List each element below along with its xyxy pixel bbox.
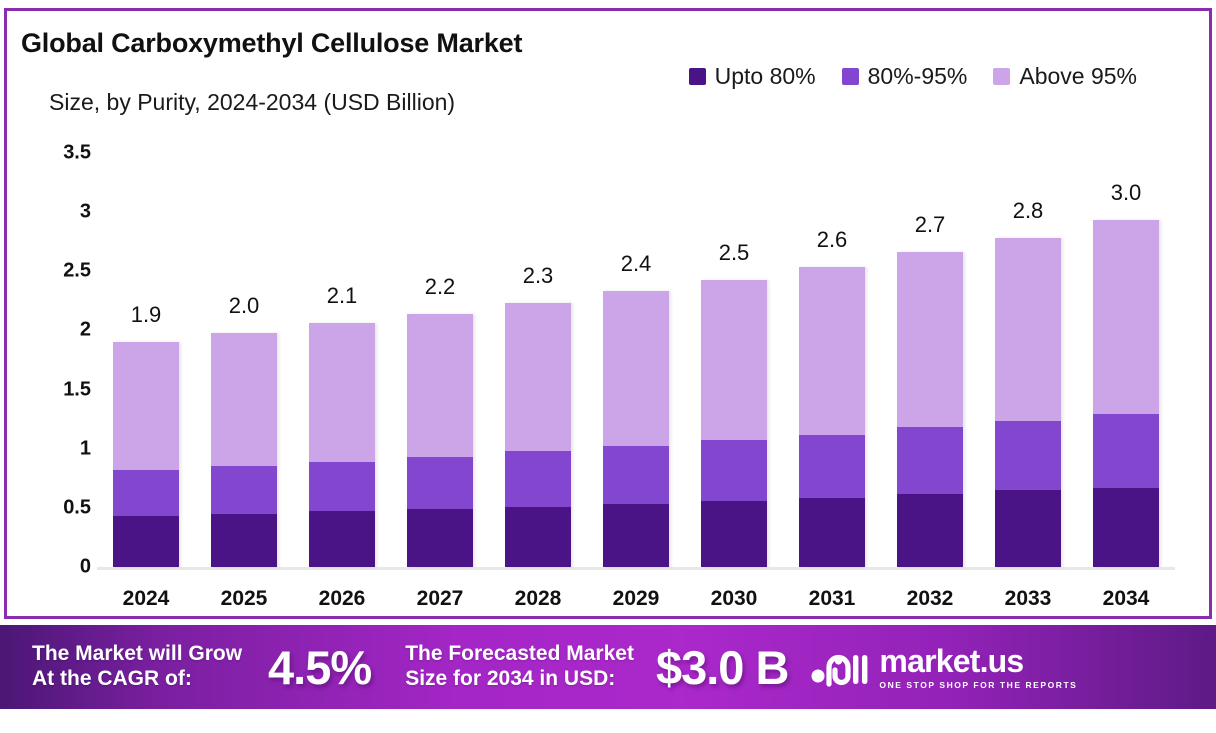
bar-segment[interactable] <box>309 462 375 512</box>
bar-value-label: 3.0 <box>1077 180 1175 206</box>
bar-value-label: 2.2 <box>391 274 489 300</box>
market-us-logo-icon <box>810 646 870 688</box>
bar-segment[interactable] <box>799 498 865 567</box>
bar-value-label: 2.5 <box>685 240 783 266</box>
bar-segment[interactable] <box>505 303 571 451</box>
bar-segment[interactable] <box>701 440 767 500</box>
bar-segment[interactable] <box>505 451 571 507</box>
bar-segment[interactable] <box>995 421 1061 490</box>
bar-value-label: 2.6 <box>783 227 881 253</box>
bar-segment[interactable] <box>897 494 963 567</box>
x-axis-tick-label: 2029 <box>587 587 685 611</box>
stacked-bar[interactable] <box>995 238 1061 567</box>
bar-segment[interactable] <box>505 507 571 567</box>
y-axis: 00.511.522.533.5 <box>35 11 91 616</box>
bar-segment[interactable] <box>309 511 375 567</box>
x-axis-tick-label: 2031 <box>783 587 881 611</box>
plot-area: 00.511.522.533.5 1.920242.020252.120262.… <box>7 11 1212 616</box>
forecast-label-line1: The Forecasted Market <box>405 642 634 667</box>
bar-group[interactable]: 2.62031 <box>783 11 881 567</box>
bar-segment[interactable] <box>603 291 669 446</box>
bar-segment[interactable] <box>113 342 179 470</box>
bar-segment[interactable] <box>995 490 1061 567</box>
bar-group[interactable]: 2.12026 <box>293 11 391 567</box>
x-axis-tick-label: 2024 <box>97 587 195 611</box>
x-axis-tick-label: 2028 <box>489 587 587 611</box>
bar-group[interactable]: 2.72032 <box>881 11 979 567</box>
stacked-bar[interactable] <box>897 252 963 567</box>
y-axis-tick-label: 2.5 <box>63 260 91 283</box>
x-axis-tick-label: 2025 <box>195 587 293 611</box>
bar-segment[interactable] <box>701 501 767 567</box>
stacked-bar[interactable] <box>799 267 865 567</box>
cagr-label-line2: At the CAGR of: <box>32 667 242 692</box>
bar-segment[interactable] <box>603 446 669 504</box>
bar-segment[interactable] <box>897 252 963 427</box>
stacked-bar[interactable] <box>505 303 571 567</box>
bar-segment[interactable] <box>407 314 473 457</box>
bar-value-label: 1.9 <box>97 302 195 328</box>
bar-group[interactable]: 2.02025 <box>195 11 293 567</box>
stacked-bar[interactable] <box>701 280 767 567</box>
bar-value-label: 2.7 <box>881 212 979 238</box>
bar-segment[interactable] <box>1093 220 1159 414</box>
bar-segment[interactable] <box>701 280 767 441</box>
chart-card: Global Carboxymethyl Cellulose Market Si… <box>4 8 1212 619</box>
cagr-value: 4.5% <box>268 640 371 695</box>
y-axis-tick-label: 3 <box>80 201 91 224</box>
bar-value-label: 2.1 <box>293 283 391 309</box>
x-axis-tick-label: 2026 <box>293 587 391 611</box>
stacked-bar[interactable] <box>309 323 375 567</box>
x-axis-tick-label: 2030 <box>685 587 783 611</box>
bar-group[interactable]: 2.32028 <box>489 11 587 567</box>
y-axis-tick-label: 1.5 <box>63 378 91 401</box>
bar-segment[interactable] <box>407 457 473 509</box>
y-axis-tick-label: 0 <box>80 556 91 579</box>
stacked-bar[interactable] <box>407 314 473 567</box>
summary-banner: The Market will Grow At the CAGR of: 4.5… <box>0 625 1216 709</box>
bar-segment[interactable] <box>897 427 963 493</box>
bar-segment[interactable] <box>995 238 1061 421</box>
forecast-label: The Forecasted Market Size for 2034 in U… <box>405 642 634 692</box>
bar-group[interactable]: 2.42029 <box>587 11 685 567</box>
logo-wordmark: market.us <box>879 645 1023 677</box>
bar-group[interactable]: 3.02034 <box>1077 11 1175 567</box>
bar-segment[interactable] <box>211 514 277 567</box>
bar-segment[interactable] <box>1093 488 1159 567</box>
market-us-logo-text: market.us ONE STOP SHOP FOR THE REPORTS <box>879 645 1077 690</box>
x-axis-tick-label: 2027 <box>391 587 489 611</box>
y-axis-tick-label: 2 <box>80 319 91 342</box>
cagr-label: The Market will Grow At the CAGR of: <box>32 642 242 692</box>
bar-segment[interactable] <box>407 509 473 567</box>
x-axis-tick-label: 2034 <box>1077 587 1175 611</box>
bar-segment[interactable] <box>603 504 669 567</box>
forecast-value: $3.0 B <box>656 640 788 695</box>
infographic-root: Global Carboxymethyl Cellulose Market Si… <box>0 0 1216 733</box>
bar-segment[interactable] <box>211 466 277 513</box>
y-axis-tick-label: 3.5 <box>63 142 91 165</box>
bar-series-container: 1.920242.020252.120262.220272.320282.420… <box>97 11 1175 616</box>
logo-tagline: ONE STOP SHOP FOR THE REPORTS <box>879 680 1077 690</box>
y-axis-tick-label: 0.5 <box>63 496 91 519</box>
bar-group[interactable]: 2.82033 <box>979 11 1077 567</box>
bar-value-label: 2.3 <box>489 263 587 289</box>
bar-group[interactable]: 2.22027 <box>391 11 489 567</box>
market-us-logo[interactable]: market.us ONE STOP SHOP FOR THE REPORTS <box>810 645 1077 690</box>
bar-segment[interactable] <box>309 323 375 461</box>
bar-segment[interactable] <box>1093 414 1159 487</box>
bar-value-label: 2.0 <box>195 293 293 319</box>
y-axis-tick-label: 1 <box>80 437 91 460</box>
bar-segment[interactable] <box>799 267 865 435</box>
bar-group[interactable]: 1.92024 <box>97 11 195 567</box>
x-axis-tick-label: 2032 <box>881 587 979 611</box>
bar-group[interactable]: 2.52030 <box>685 11 783 567</box>
stacked-bar[interactable] <box>603 291 669 567</box>
forecast-label-line2: Size for 2034 in USD: <box>405 667 634 692</box>
bar-value-label: 2.4 <box>587 251 685 277</box>
bar-value-label: 2.8 <box>979 198 1077 224</box>
bar-segment[interactable] <box>113 470 179 516</box>
stacked-bar[interactable] <box>211 333 277 567</box>
bar-segment[interactable] <box>211 333 277 467</box>
stacked-bar[interactable] <box>1093 220 1159 567</box>
bar-segment[interactable] <box>799 435 865 499</box>
stacked-bar[interactable] <box>113 342 179 567</box>
x-axis-tick-label: 2033 <box>979 587 1077 611</box>
cagr-label-line1: The Market will Grow <box>32 642 242 667</box>
bar-segment[interactable] <box>113 516 179 567</box>
